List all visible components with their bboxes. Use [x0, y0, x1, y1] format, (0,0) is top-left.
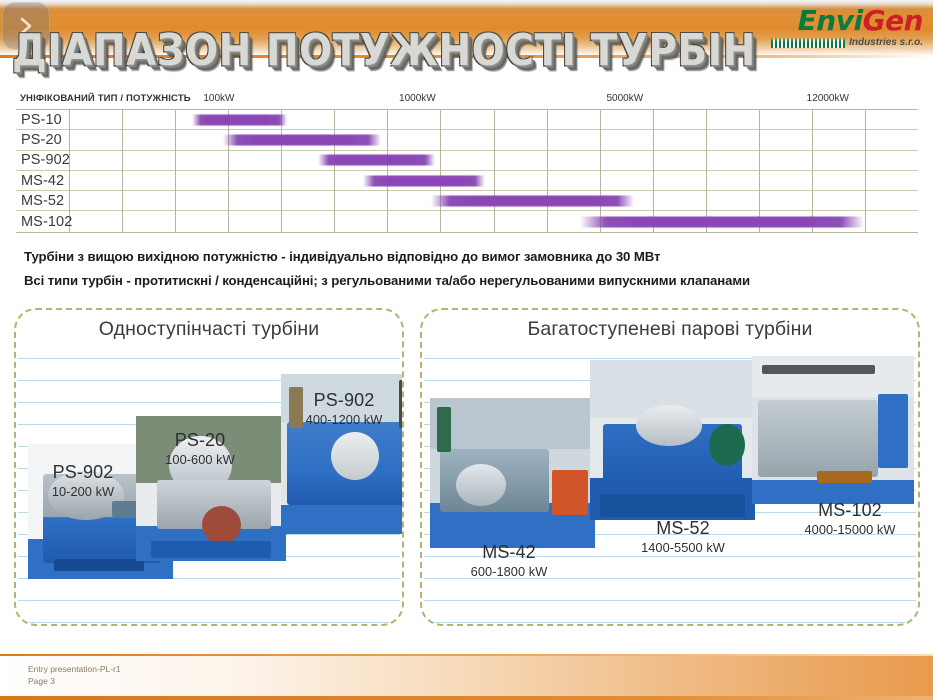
chart-bar-ms-102 [580, 216, 864, 227]
callout-right-1-name: MS-52 [618, 518, 748, 539]
axis-tick-0: 100kW [203, 93, 234, 104]
note-line-2: Всі типи турбін - протитискні / конденса… [24, 269, 914, 293]
callout-left-0-power: 10-200 kW [28, 483, 138, 500]
logo-bars-icon [771, 37, 845, 48]
guide-line [424, 600, 916, 601]
panel-left-title: Одноступінчасті турбіни [16, 318, 402, 341]
chart-gridline-10 [547, 110, 548, 232]
envigen-logo: EnviGen Industries s.r.o. [771, 6, 923, 52]
panel-single-stage: Одноступінчасті турбіни [14, 308, 404, 626]
chart-bar-ps-20 [223, 134, 381, 145]
callout-left-1-name: PS-20 [144, 430, 256, 451]
page-title: ДІАПАЗОН ПОТУЖНОСТІ ТУРБІН [12, 26, 732, 80]
footer-page-number: Page 3 [28, 675, 121, 687]
chart-row: PS-20 [16, 130, 918, 150]
chart-row-label-ms-42: MS-42 [21, 173, 64, 189]
chart-gridline-3 [175, 110, 176, 232]
logo-industries-text: Industries s.r.o. [849, 37, 923, 48]
axis-tick-1: 1000kW [399, 93, 436, 104]
chart-row-label-ps-902: PS-902 [21, 152, 70, 168]
footer-top-rule [0, 654, 933, 656]
chart-grid: PS-10PS-20PS-902MS-42MS-52MS-102 [16, 109, 918, 233]
chart-bar-ms-52 [431, 195, 634, 206]
callout-left-2-power: 400-1200 kW [282, 411, 402, 428]
callout-right-1: MS-52 1400-5500 kW [618, 518, 748, 556]
callout-left-2: PS-902 400-1200 kW [282, 390, 402, 428]
guide-line [424, 622, 916, 623]
notes-block: Турбіни з вищою вихідною потужністю - ін… [24, 245, 914, 293]
chart-gridline-11 [600, 110, 601, 232]
chart-gridline-5 [281, 110, 282, 232]
chart-row: MS-102 [16, 211, 918, 231]
callout-left-0-name: PS-902 [28, 462, 138, 483]
chart-gridline-14 [759, 110, 760, 232]
chart-row-label-ps-20: PS-20 [21, 132, 62, 148]
chart-gridline-4 [228, 110, 229, 232]
chart-gridline-15 [812, 110, 813, 232]
slide: EnviGen Industries s.r.o. ДІАПАЗОН ПОТУЖ… [0, 0, 933, 700]
callout-left-1: PS-20 100-600 kW [144, 430, 256, 468]
chart-row-label-ms-52: MS-52 [21, 193, 64, 209]
chart-row: MS-42 [16, 171, 918, 191]
chart-row: MS-52 [16, 191, 918, 211]
logo-subline: Industries s.r.o. [771, 35, 923, 48]
guide-line [18, 622, 400, 623]
photo-turbine-ms102 [752, 356, 914, 504]
panel-right-title: Багатоступеневі парові турбіни [422, 318, 918, 341]
footer-bottom-rule [0, 696, 933, 700]
chart-bar-ps-10 [192, 114, 287, 125]
note-line-1: Турбіни з вищою вихідною потужністю - ін… [24, 245, 914, 269]
chart-gridline-8 [440, 110, 441, 232]
guide-line [18, 358, 400, 359]
chart-row: PS-902 [16, 151, 918, 171]
slide-footer: Entry presentation-PL-r1 Page 3 [0, 654, 933, 700]
chart-gridline-9 [494, 110, 495, 232]
chart-header-label: УНІФІКОВАНИЙ ТИП / ПОТУЖНІСТЬ [20, 93, 191, 104]
axis-tick-2: 5000kW [607, 93, 644, 104]
footer-text: Entry presentation-PL-r1 Page 3 [28, 663, 121, 687]
callout-right-1-power: 1400-5500 kW [618, 539, 748, 556]
callout-left-0: PS-902 10-200 kW [28, 462, 138, 500]
callout-left-2-name: PS-902 [282, 390, 402, 411]
chart-gridline-13 [706, 110, 707, 232]
guide-line [18, 600, 400, 601]
photo-turbine-ms42 [430, 398, 595, 548]
chart-gridline-6 [334, 110, 335, 232]
chart-axis-header: УНІФІКОВАНИЙ ТИП / ПОТУЖНІСТЬ 100kW1000k… [16, 92, 918, 109]
axis-tick-3: 12000kW [807, 93, 849, 104]
callout-right-2: MS-102 4000-15000 kW [782, 500, 918, 538]
panel-left-body: PS-902 10-200 kW PS-20 100-600 kW PS-902… [16, 352, 402, 624]
panel-right-body: MS-42 600-1800 kW MS-52 1400-5500 kW MS-… [422, 352, 918, 624]
callout-right-2-power: 4000-15000 kW [782, 521, 918, 538]
chart-row: PS-10 [16, 110, 918, 130]
callout-right-2-name: MS-102 [782, 500, 918, 521]
footer-doc-name: Entry presentation-PL-r1 [28, 663, 121, 675]
chart-gridline-16 [865, 110, 866, 232]
callout-right-0-name: MS-42 [450, 542, 568, 563]
panel-multi-stage: Багатоступеневі парові турбіни [420, 308, 920, 626]
chart-bar-ps-902 [318, 155, 435, 166]
logo-text-envi: Envi [798, 4, 863, 37]
chart-gridline-7 [387, 110, 388, 232]
callout-right-0-power: 600-1800 kW [450, 563, 568, 580]
callout-left-1-power: 100-600 kW [144, 451, 256, 468]
callout-right-0: MS-42 600-1800 kW [450, 542, 568, 580]
chart-gridline-12 [653, 110, 654, 232]
chart-row-label-ps-10: PS-10 [21, 112, 62, 128]
logo-text-gen: Gen [863, 4, 923, 37]
power-range-chart: УНІФІКОВАНИЙ ТИП / ПОТУЖНІСТЬ 100kW1000k… [16, 92, 918, 232]
chart-bar-ms-42 [363, 175, 485, 186]
chart-row-label-ms-102: MS-102 [21, 214, 72, 230]
logo-wordmark: EnviGen [771, 6, 923, 36]
photo-turbine-ms52 [590, 360, 755, 520]
chart-gridline-2 [122, 110, 123, 232]
